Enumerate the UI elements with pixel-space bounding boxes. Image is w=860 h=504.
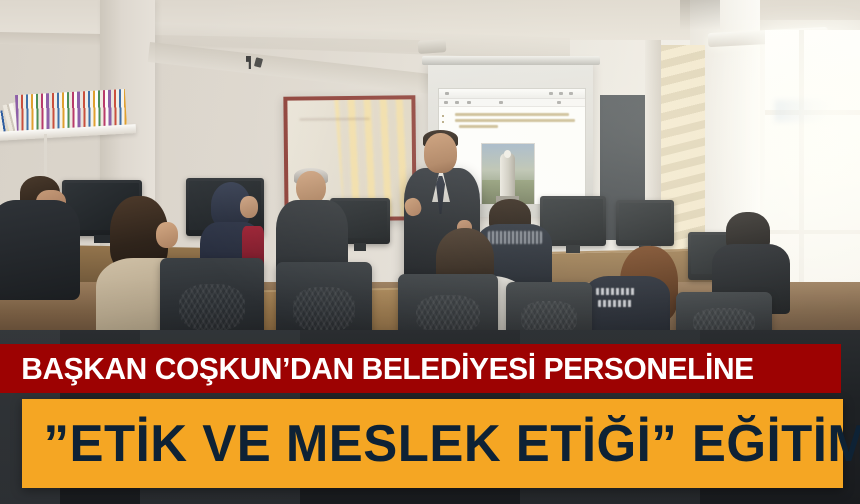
attendee-torso — [0, 200, 80, 300]
slide-text-line — [455, 119, 575, 122]
titlebar-control-icon-2 — [559, 92, 563, 95]
slide-app-toolbar — [439, 99, 585, 107]
subhead-text: ”ETİK VE MESLEK ETİĞİ” EĞİTİMİ — [22, 418, 860, 470]
slide-bullet-icon-2 — [442, 121, 444, 123]
monitor-stand — [566, 245, 579, 253]
slide-text-line — [459, 125, 498, 128]
subhead-banner: ”ETİK VE MESLEK ETİĞİ” EĞİTİMİ — [22, 399, 843, 488]
slide-bullet-icon — [442, 115, 444, 117]
titlebar-dot-icon — [445, 92, 449, 95]
presenter-face — [424, 133, 457, 173]
window-mullion-vertical — [799, 30, 804, 310]
toolbar-icon-4 — [499, 101, 503, 104]
chair-mesh-back — [179, 284, 246, 331]
statue-head — [504, 150, 511, 158]
window-glass-tint — [775, 100, 835, 122]
slide-app-titlebar — [439, 89, 585, 99]
news-photo-screenshot: BAŞKAN COŞKUN’DAN BELEDİYESİ PERSONELİNE… — [0, 0, 860, 504]
titlebar-control-icon — [549, 92, 553, 95]
bookshelf-support — [44, 134, 47, 176]
monitor-screen — [619, 203, 671, 240]
headline-banner: BAŞKAN COŞKUN’DAN BELEDİYESİ PERSONELİNE — [0, 344, 841, 393]
window-mullion-horizontal-lower — [765, 230, 860, 234]
attendee-face — [240, 196, 258, 218]
projector-device — [418, 39, 447, 54]
toolbar-icon-5 — [557, 101, 561, 104]
monitor-screen — [543, 199, 603, 240]
attendee-jacket-back-text — [488, 231, 542, 244]
monitor-stand — [354, 243, 366, 251]
monitor — [616, 200, 674, 246]
chair-mesh-back — [416, 295, 480, 334]
toolbar-icon-2 — [455, 101, 459, 104]
statue-figure — [500, 153, 515, 201]
toolbar-icon-1 — [444, 101, 448, 104]
attendee-ear-side — [156, 222, 178, 248]
toolbar-icon-3 — [467, 101, 471, 104]
monitor-stand — [94, 235, 110, 243]
attendee-jacket-back-text-line2 — [598, 300, 632, 307]
slide-statue-photo — [481, 143, 535, 205]
slide-text-line — [455, 113, 569, 116]
chair-mesh-back — [293, 287, 354, 332]
headline-text: BAŞKAN COŞKUN’DAN BELEDİYESİ PERSONELİNE — [0, 353, 754, 384]
projection-screen-roller — [422, 56, 600, 65]
wall-shadow — [680, 0, 720, 30]
titlebar-control-icon-3 — [569, 92, 573, 95]
attendee-jacket-back-text-line1 — [596, 288, 636, 295]
